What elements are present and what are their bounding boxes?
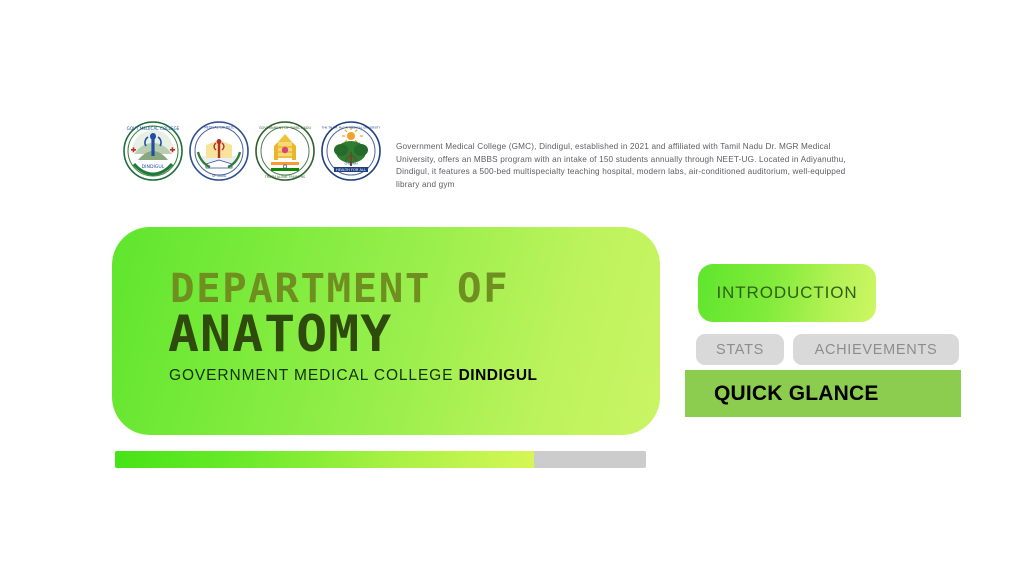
progress-track[interactable] (115, 451, 646, 468)
tn-dr-mgr-medical-university-emblem-icon: HEALTH FOR ALL THE TN DR. M.G.R. MEDICAL… (320, 120, 382, 182)
slide-canvas: GOVT MEDICAL COLLEGE DINDIGUL MEDICAL CO… (0, 0, 1024, 576)
hero-title-line-1: DEPARTMENT OF (170, 269, 509, 309)
svg-text:OF INDIA: OF INDIA (212, 174, 227, 178)
svg-text:DINDIGUL: DINDIGUL (142, 164, 165, 170)
svg-text:HEALTH FOR ALL: HEALTH FOR ALL (336, 168, 366, 172)
government-of-tamil-nadu-emblem-icon: GOVERNMENT OF TAMIL NADU TRUTH ALONE TRI… (254, 120, 316, 182)
logo-strip: GOVT MEDICAL COLLEGE DINDIGUL MEDICAL CO… (122, 120, 382, 182)
nav-secondary-row: STATS ACHIEVEMENTS (696, 334, 959, 365)
nav-item-quick-glance[interactable]: QUICK GLANCE (685, 370, 961, 417)
hero-title-line-2: ANATOMY (168, 309, 392, 359)
hero-subtitle-prefix: GOVERNMENT MEDICAL COLLEGE (169, 367, 459, 384)
gmc-dindigul-emblem-icon: GOVT MEDICAL COLLEGE DINDIGUL (122, 120, 184, 182)
nav-item-achievements[interactable]: ACHIEVEMENTS (793, 334, 959, 365)
intro-paragraph: Government Medical College (GMC), Dindig… (396, 141, 866, 191)
hero-subtitle: GOVERNMENT MEDICAL COLLEGE DINDIGUL (169, 367, 538, 385)
svg-text:THE TN DR. M.G.R. MEDICAL UNIV: THE TN DR. M.G.R. MEDICAL UNIVERSITY (321, 125, 381, 129)
nav-item-introduction[interactable]: INTRODUCTION (698, 264, 876, 322)
svg-text:GOVERNMENT OF TAMIL NADU: GOVERNMENT OF TAMIL NADU (259, 126, 312, 130)
svg-text:TRUTH ALONE TRIUMPHS: TRUTH ALONE TRIUMPHS (264, 175, 305, 179)
progress-fill (115, 451, 534, 468)
nav-item-stats[interactable]: STATS (696, 334, 784, 365)
svg-text:GOVT MEDICAL COLLEGE: GOVT MEDICAL COLLEGE (127, 126, 180, 131)
svg-text:MEDICAL COUNCIL: MEDICAL COUNCIL (204, 126, 234, 130)
medical-council-emblem-icon: MEDICAL COUNCIL OF INDIA (188, 120, 250, 182)
svg-text:CHENNAI: CHENNAI (344, 162, 357, 166)
hero-subtitle-city: DINDIGUL (459, 367, 538, 384)
hero-card: DEPARTMENT OF ANATOMY GOVERNMENT MEDICAL… (112, 227, 660, 435)
